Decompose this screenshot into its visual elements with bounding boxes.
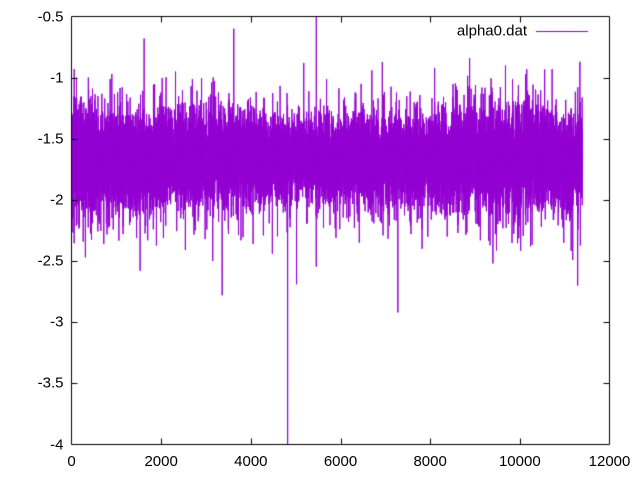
- y-tick-label: -4: [50, 437, 63, 452]
- x-tick-label: 0: [67, 454, 75, 469]
- x-tick-label: 12000: [589, 454, 631, 469]
- x-tick-label: 6000: [324, 454, 357, 469]
- y-tick-label: -3: [50, 315, 63, 330]
- chart-plot-area[interactable]: [0, 0, 640, 480]
- y-tick-label: -2: [50, 192, 63, 207]
- gnuplot-figure: -0.5-1-1.5-2-2.5-3-3.5-4 020004000600080…: [0, 0, 640, 480]
- x-tick-label: 2000: [144, 454, 177, 469]
- y-tick-label: -1.5: [38, 131, 64, 146]
- x-tick-label: 4000: [234, 454, 267, 469]
- y-tick-label: -3.5: [38, 376, 64, 391]
- y-tick-label: -0.5: [38, 9, 64, 24]
- y-tick-label: -2.5: [38, 254, 64, 269]
- legend-entry-label: alpha0.dat: [0, 24, 527, 39]
- y-tick-label: -1: [50, 70, 63, 85]
- x-tick-label: 10000: [499, 454, 541, 469]
- x-tick-label: 8000: [413, 454, 446, 469]
